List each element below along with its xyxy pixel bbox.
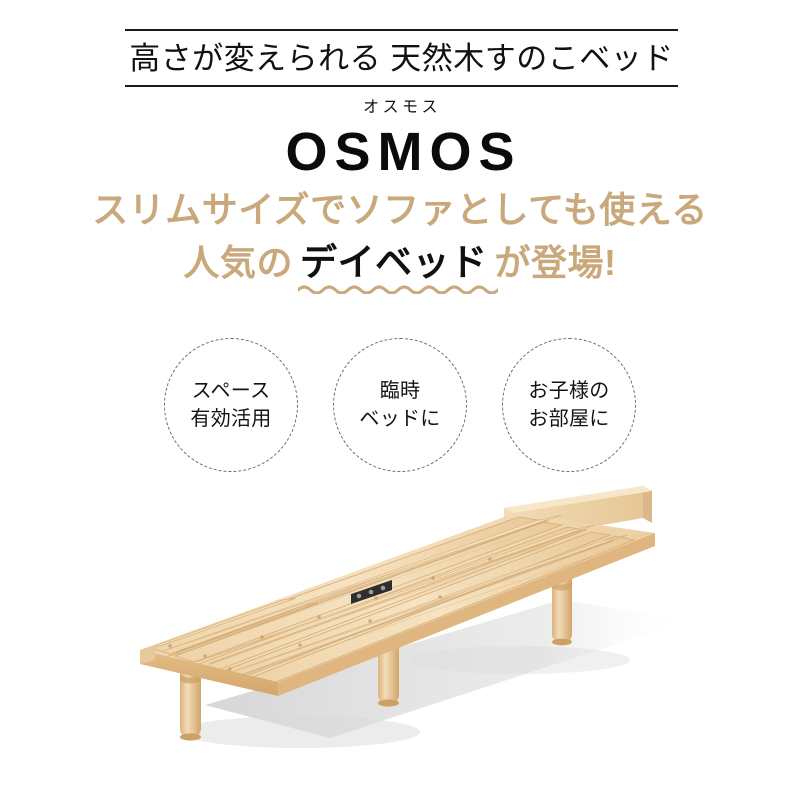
- tagline-block: スリムサイズでソファとしても使える 人気の デイベッド が登場!: [0, 192, 800, 281]
- tagline-emphasis-wrap: デイベッド: [300, 244, 488, 281]
- feature-badge-line-2: お部屋に: [528, 405, 609, 433]
- tagline-suffix: が登場!: [495, 245, 617, 281]
- feature-badge-line-1: お子様の: [528, 377, 609, 405]
- tagline-line-1: スリムサイズでソファとしても使える: [0, 192, 800, 228]
- feature-badge-kids-room: お子様の お部屋に: [502, 338, 636, 472]
- feature-badge-guest-bed: 臨時 ベッドに: [333, 338, 467, 472]
- feature-badges: スペース 有効活用 臨時 ベッドに お子様の お部屋に: [0, 338, 800, 472]
- brand-wordmark: OSMOS: [0, 125, 800, 179]
- tagline-line-2: 人気の デイベッド が登場!: [0, 244, 800, 281]
- brand-logo: オスモス OSMOS: [0, 100, 800, 179]
- product-image: [0, 470, 800, 800]
- wavy-underline-icon: [298, 283, 498, 294]
- feature-badge-line-2: ベッドに: [359, 405, 440, 433]
- feature-badge-space: スペース 有効活用: [164, 338, 298, 472]
- daybed-illustration: [0, 470, 800, 800]
- headline-block: 高さが変えられる 天然木すのこベッド: [125, 29, 678, 87]
- brand-kana-reading: オスモス: [0, 100, 800, 116]
- headline-rule-bottom: [125, 85, 678, 87]
- tagline-emphasis: デイベッド: [300, 242, 488, 283]
- page-title: 高さが変えられる 天然木すのこベッド: [125, 31, 678, 85]
- feature-badge-line-2: 有効活用: [190, 405, 271, 433]
- tagline-prefix: 人気の: [183, 245, 293, 281]
- feature-badge-line-1: 臨時: [380, 377, 421, 405]
- feature-badge-line-1: スペース: [192, 377, 271, 405]
